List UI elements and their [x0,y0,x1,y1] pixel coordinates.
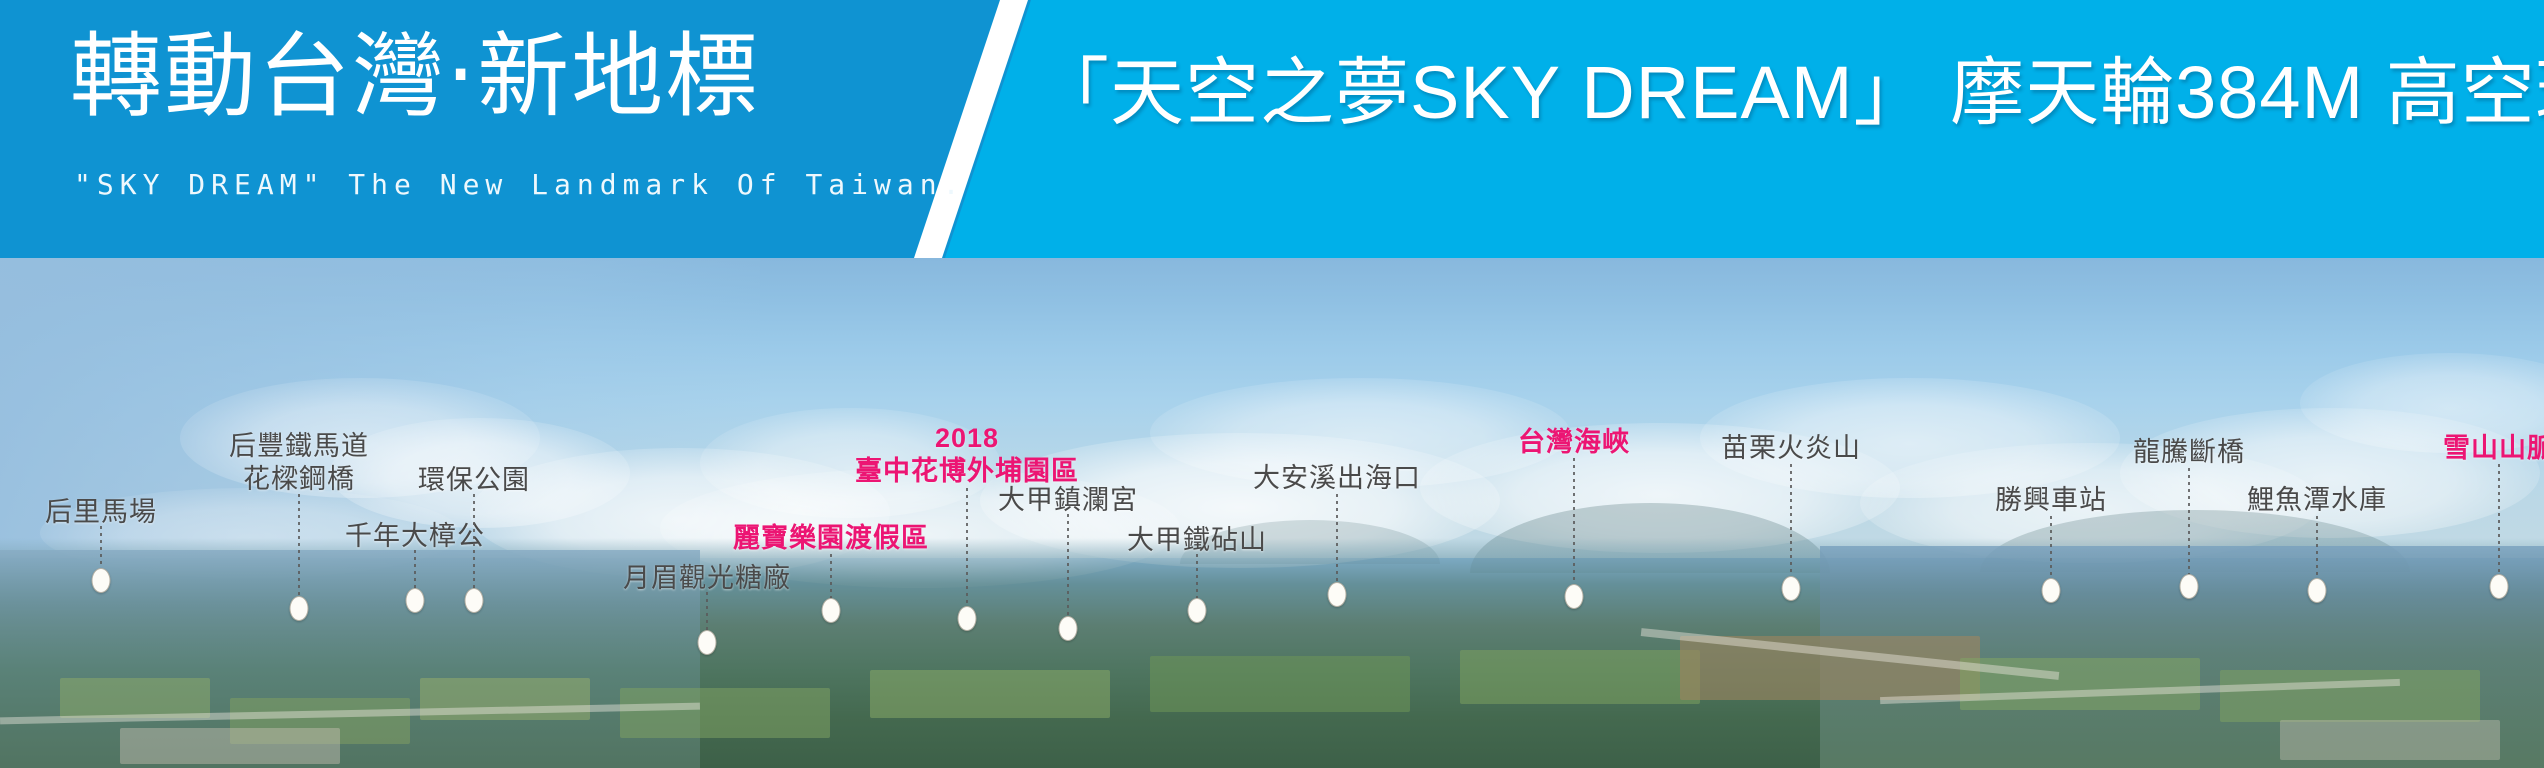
marker-pin-taiwan-strait[interactable] [1565,584,1584,609]
marker-label-daan-river-estuary: 大安溪出海口 [1253,462,1421,495]
marker-pin-liyutan-reservoir[interactable] [2308,578,2327,603]
banner-right-section: 「天空之夢SKY DREAM」 摩天輪384M 高空環景 [1035,0,2544,258]
marker-label-liyutan-reservoir: 鯉魚潭水庫 [2247,484,2387,517]
marker-pin-houfeng-bikeway[interactable] [290,596,309,621]
page-root: 轉動台灣‧新地標 "SKY DREAM" The New Landmark Of… [0,0,2544,768]
marker-leader-line [414,550,416,588]
marker-pin-houli-horse-ranch[interactable] [92,568,111,593]
marker-pin-miaoli-huoyan-mountain[interactable] [1782,576,1801,601]
marker-pin-longteng-broken-bridge[interactable] [2180,574,2199,599]
banner-left-section: 轉動台灣‧新地標 "SKY DREAM" The New Landmark Of… [0,0,950,258]
marker-pin-millennium-camphor[interactable] [406,588,425,613]
marker-pin-daan-river-estuary[interactable] [1328,582,1347,607]
marker-label-shengxing-station: 勝興車站 [1995,484,2107,517]
marker-leader-line [100,526,102,568]
banner-subtitle: "SKY DREAM" The New Landmark Of Taiwan. [74,168,965,201]
marker-pin-dajia-jenn-lann-temple[interactable] [1059,616,1078,641]
marker-leader-line [706,592,708,630]
marker-label-houli-horse-ranch: 后里馬場 [45,496,157,529]
marker-leader-line [1790,464,1792,576]
marker-leader-line [298,494,300,596]
header-banner: 轉動台灣‧新地標 "SKY DREAM" The New Landmark Of… [0,0,2544,258]
marker-pin-yuemei-sugar-factory[interactable] [698,630,717,655]
marker-label-longteng-broken-bridge: 龍騰斷橋 [2133,436,2245,469]
marker-label-eco-park: 環保公園 [418,464,530,497]
banner-title: 轉動台灣‧新地標 [70,28,759,127]
marker-pin-dajia-tiezhen-mountain[interactable] [1188,598,1207,623]
marker-label-dajia-tiezhen-mountain: 大甲鐵砧山 [1127,524,1267,557]
marker-label-houfeng-bikeway: 后豐鐵馬道花樑鋼橋 [229,430,369,496]
marker-pin-taichung-flora-expo[interactable] [958,606,977,631]
marker-label-taichung-flora-expo: 2018臺中花博外埔園區 [855,422,1079,488]
marker-pin-eco-park[interactable] [465,588,484,613]
marker-pin-shengxing-station[interactable] [2042,578,2061,603]
marker-leader-line [966,488,968,606]
marker-leader-line [2050,516,2052,578]
marker-label-xueshan-range: 雪山山脈 [2443,432,2544,465]
marker-label-yuemei-sugar-factory: 月眉觀光糖廠 [623,562,791,595]
marker-leader-line [2316,516,2318,578]
marker-label-miaoli-huoyan-mountain: 苗栗火炎山 [1721,432,1861,465]
marker-leader-line [1196,554,1198,598]
marker-label-lihpao-resort: 麗寶樂園渡假區 [733,522,929,555]
marker-leader-line [1067,514,1069,616]
banner-headline: 「天空之夢SKY DREAM」 摩天輪384M 高空環景 [1035,52,2544,135]
marker-leader-line [1336,494,1338,582]
panorama-photo: 后里馬場后豐鐵馬道花樑鋼橋千年大樟公環保公園月眉觀光糖廠麗寶樂園渡假區2018臺… [0,258,2544,768]
marker-leader-line [2498,464,2500,574]
marker-pin-xueshan-range[interactable] [2490,574,2509,599]
marker-leader-line [473,494,475,588]
marker-pin-lihpao-resort[interactable] [822,598,841,623]
marker-label-taiwan-strait: 台灣海峽 [1518,426,1630,459]
marker-leader-line [2188,468,2190,574]
marker-label-dajia-jenn-lann-temple: 大甲鎮瀾宮 [998,484,1138,517]
marker-label-millennium-camphor: 千年大樟公 [345,520,485,553]
marker-leader-line [830,554,832,598]
marker-leader-line [1573,458,1575,584]
